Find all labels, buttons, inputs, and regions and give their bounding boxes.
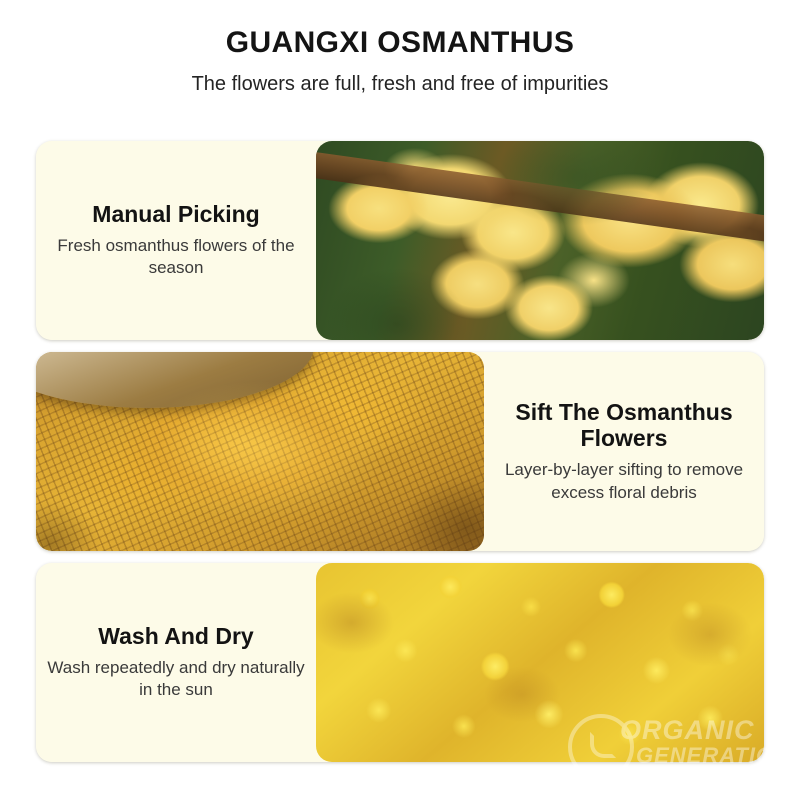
card-title: Manual Picking <box>92 201 259 228</box>
process-step-card-sift-flowers: Sift The Osmanthus Flowers Layer-by-laye… <box>36 352 764 551</box>
card-text-block: Wash And Dry Wash repeatedly and dry nat… <box>36 563 316 762</box>
osmanthus-granules-on-bamboo-sieve-photo <box>36 352 484 551</box>
page-title: GUANGXI OSMANTHUS <box>0 26 800 61</box>
process-step-card-wash-and-dry: Wash And Dry Wash repeatedly and dry nat… <box>36 563 764 762</box>
process-step-cards: Manual Picking Fresh osmanthus flowers o… <box>36 141 764 774</box>
card-text-block: Sift The Osmanthus Flowers Layer-by-laye… <box>484 352 764 551</box>
dried-osmanthus-blossoms-photo <box>316 563 764 762</box>
card-text-block: Manual Picking Fresh osmanthus flowers o… <box>36 141 316 340</box>
card-description: Wash repeatedly and dry naturally in the… <box>45 657 307 702</box>
osmanthus-flowers-on-branch-photo <box>316 141 764 340</box>
page-subtitle: The flowers are full, fresh and free of … <box>0 72 800 96</box>
card-description: Fresh osmanthus flowers of the season <box>45 235 307 280</box>
process-step-card-manual-picking: Manual Picking Fresh osmanthus flowers o… <box>36 141 764 340</box>
page-header: GUANGXI OSMANTHUS The flowers are full, … <box>0 0 800 96</box>
card-description: Layer-by-layer sifting to remove excess … <box>493 459 755 504</box>
card-title: Wash And Dry <box>98 623 253 650</box>
card-title: Sift The Osmanthus Flowers <box>492 399 756 452</box>
